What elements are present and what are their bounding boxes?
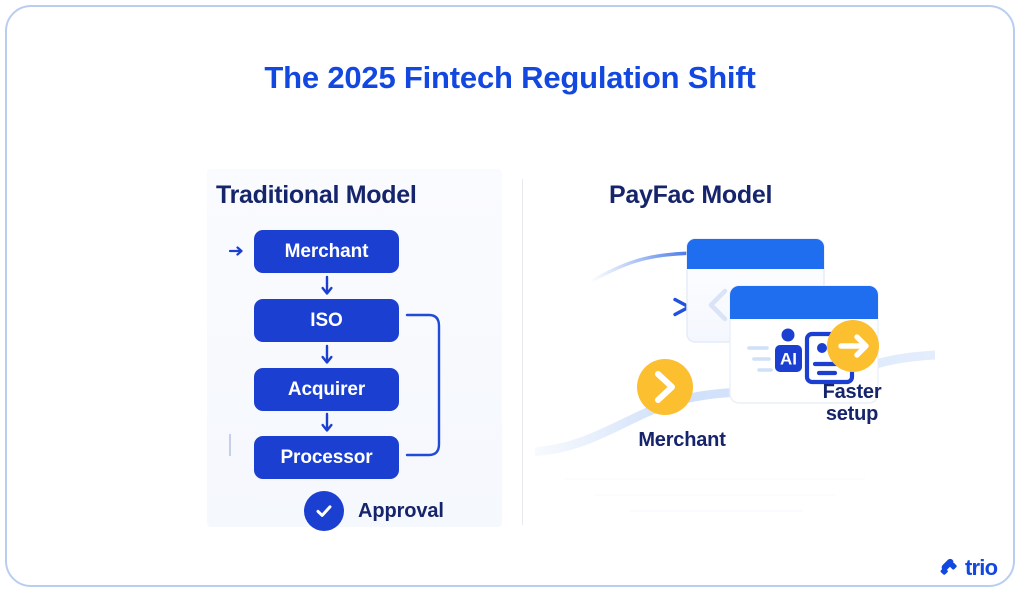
caption-merchant: Merchant — [607, 429, 757, 451]
arrow-down-icon — [318, 344, 336, 368]
column-divider — [522, 179, 523, 525]
check-circle-icon — [304, 491, 344, 531]
flow-box-iso[interactable]: ISO — [254, 299, 399, 342]
bracket-right-icon — [405, 312, 447, 458]
inbound-lines — [557, 246, 707, 334]
approval-row: Approval — [304, 491, 444, 531]
flow-box-processor[interactable]: Processor — [254, 436, 399, 479]
arrow-right-circle-icon — [827, 320, 879, 372]
flow-box-acquirer[interactable]: Acquirer — [254, 368, 399, 411]
trio-diamond-mark — [939, 555, 961, 582]
traditional-model-heading: Traditional Model — [216, 181, 416, 210]
arrow-down-icon — [318, 412, 336, 436]
approval-label: Approval — [358, 500, 444, 523]
logo-text: trio — [965, 557, 997, 579]
svg-text:AI: AI — [780, 350, 797, 369]
arrow-down-icon — [318, 275, 336, 299]
arrow-right-icon — [227, 241, 247, 261]
page-title: The 2025 Fintech Regulation Shift — [7, 60, 1013, 96]
caption-faster-setup: Faster setup — [797, 381, 907, 426]
payfac-illustration: AI — [535, 217, 935, 527]
panel-tick-mark — [229, 434, 231, 456]
payfac-model-heading: PayFac Model — [609, 181, 772, 210]
infographic-card: The 2025 Fintech Regulation Shift Tradit… — [5, 5, 1015, 587]
trio-logo[interactable]: trio — [939, 555, 997, 581]
flow-box-merchant[interactable]: Merchant — [254, 230, 399, 273]
chevron-right-circle-icon — [637, 359, 693, 415]
